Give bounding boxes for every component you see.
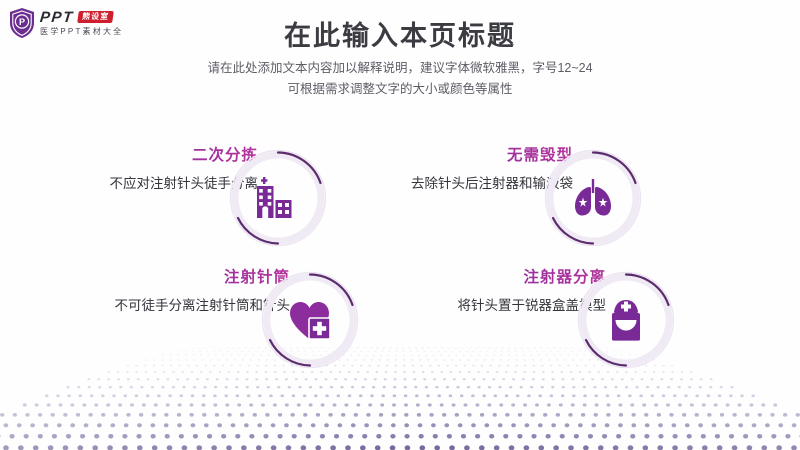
heart-cross-icon xyxy=(258,268,362,372)
nurse-icon xyxy=(574,268,678,372)
feature-text-group: 二次分拣 不应对注射针头徒手分离 xyxy=(32,146,258,194)
feature-text-group: 无需毁型 去除针头后注射器和输液袋 xyxy=(347,146,573,194)
feature-body: 不应对注射针头徒手分离 xyxy=(32,174,258,194)
feature-heading: 注射器分离 xyxy=(380,268,606,288)
feature-icon-circle xyxy=(541,146,645,250)
hospital-building-icon xyxy=(226,146,330,250)
feature-block-3[interactable]: 注射针筒 不可徒手分离注射针筒和针头 xyxy=(62,268,362,378)
feature-heading: 注射针筒 xyxy=(64,268,290,288)
feature-heading: 无需毁型 xyxy=(347,146,573,166)
feature-body: 去除针头后注射器和输液袋 xyxy=(347,174,573,194)
feature-icon-circle xyxy=(574,268,678,372)
feature-body: 将针头置于锐器盒盖模型 xyxy=(380,296,606,316)
feature-block-2[interactable]: 无需毁型 去除针头后注射器和输液袋 xyxy=(345,146,645,256)
slide-canvas: P PPT 熊设室 医学PPT素材大全 在此输入本页标题 请在此处添加文本内容加… xyxy=(0,0,800,450)
lungs-icon xyxy=(541,146,645,250)
feature-body: 不可徒手分离注射针筒和针头 xyxy=(64,296,290,316)
feature-text-group: 注射针筒 不可徒手分离注射针筒和针头 xyxy=(64,268,290,316)
feature-heading: 二次分拣 xyxy=(32,146,258,166)
page-title: 在此输入本页标题 xyxy=(0,14,800,53)
subtitle-line-2: 可根据需求调整文字的大小或颜色等属性 xyxy=(0,79,800,100)
feature-block-1[interactable]: 二次分拣 不应对注射针头徒手分离 xyxy=(30,146,330,256)
feature-icon-circle xyxy=(226,146,330,250)
page-subtitle: 请在此处添加文本内容加以解释说明，建议字体微软雅黑，字号12~24 可根据需求调… xyxy=(0,58,800,100)
subtitle-line-1: 请在此处添加文本内容加以解释说明，建议字体微软雅黑，字号12~24 xyxy=(0,58,800,79)
feature-icon-circle xyxy=(258,268,362,372)
feature-text-group: 注射器分离 将针头置于锐器盒盖模型 xyxy=(380,268,606,316)
feature-block-4[interactable]: 注射器分离 将针头置于锐器盒盖模型 xyxy=(378,268,678,378)
